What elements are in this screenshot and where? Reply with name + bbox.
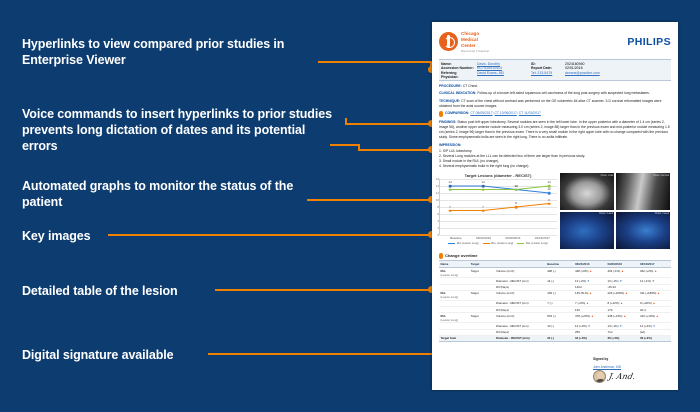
handwritten-signature: J. And. [608, 372, 636, 381]
comparison-link-2[interactable]: CT 10/06/2017 [494, 111, 516, 115]
image-tag: Chest, Axial [601, 174, 614, 177]
signature-block: Signed by John Anderson, MD J. And. [439, 347, 671, 383]
lesion-sub: (Lesion Lung) [441, 273, 459, 277]
chart-series-lines [440, 179, 557, 235]
callout-digital-signature: Digital signature available [22, 347, 237, 363]
impression-item: 4. Several emphysematic bulla in the rig… [439, 164, 671, 169]
legend-label: RLL (Lesion Lung) [457, 242, 479, 245]
chart-point-label: 9 [548, 198, 550, 202]
cell-name: RLL(Lesion Lung) [439, 290, 469, 300]
trend-up-icon: ▲ [586, 301, 589, 305]
x-tick-label: Baseline [450, 236, 462, 240]
y-tick-label: 0 [433, 233, 439, 237]
th-date-1: 06/24/2016 [574, 261, 606, 268]
cell-name: RLL(Lesion Lung) [439, 313, 469, 323]
physician-email[interactable]: devans@practice.com [565, 71, 627, 79]
chart-data-point [482, 209, 485, 212]
legend-entry: RLL (Lesion Lung) [483, 242, 514, 245]
lesion-sub: (Lesion Lung) [441, 318, 459, 322]
section-findings: FINDINGS: Status post left upper lobecto… [439, 120, 671, 140]
callout-voice-commands: Voice commands to insert hyperlinks to p… [22, 106, 342, 154]
signer-name-link[interactable]: John Anderson, MD [593, 365, 671, 369]
th-date-3: 02/16/2017 [638, 261, 671, 268]
cell-metric: Volume (mm³) [495, 313, 546, 323]
microphone-icon [439, 253, 443, 259]
comparison-label: COMPARISON: [445, 111, 469, 115]
table-row[interactable]: RLL(Lesion Lung)TargetVolume (mm³)408 (-… [439, 268, 671, 278]
chart-point-label: 8 [515, 201, 517, 205]
image-tag: Chest, Fused [599, 212, 613, 215]
trend-down-icon: ▼ [588, 324, 591, 328]
y-tick-label: 10 [433, 198, 439, 202]
section-technique: TECHNIQUE: CT scan of the chest without … [439, 99, 671, 109]
trend-down-icon: ▼ [652, 279, 655, 283]
trend-up-icon: ▲ [625, 291, 628, 295]
table-row[interactable]: RLL(Lesion Lung)TargetVolume (mm³)109 (-… [439, 290, 671, 300]
image-tag: Chest, Fused [655, 212, 669, 215]
lesion-sub: (Lesion Lung) [441, 295, 459, 299]
change-overtime-table: Name Target Baseline 06/24/2016 09/26/20… [439, 260, 671, 342]
patient-name-value[interactable]: Davis, Dorothy [477, 62, 529, 66]
cell-summary-name: Target Sum [439, 335, 469, 341]
y-tick-label: 8 [433, 205, 439, 209]
trend-up-icon: ▲ [589, 291, 592, 295]
logo-subtitle: Memorial Hospital [461, 49, 489, 53]
chart-point-label: 7 [482, 205, 484, 209]
cell-date-3: 413 (+10%) ▲ [638, 313, 671, 323]
cell-date-3: 362 (+2%) ▲ [638, 268, 671, 278]
findings-text: Status post left upper lobectomy. Severa… [439, 120, 670, 139]
chart-data-point [449, 209, 452, 212]
philips-wordmark: PHILIPS [627, 36, 671, 48]
procedure-text: CT Chest. [463, 84, 478, 88]
patient-info-table: Name: Davis, Dorothy ID: 2024160940 Acce… [439, 59, 671, 81]
cell-summary-date-1: 34 (+0%) [574, 335, 606, 341]
patient-id-value: 2024160940 [565, 62, 627, 66]
cell-date-1: 145 (5L%) ▲ [574, 290, 606, 300]
x-tick-label: 06/24/2016 [476, 236, 491, 240]
clinical-indication-label: CLINICAL INDICATION: [439, 91, 476, 95]
referring-physician-label: Referring Physician: [441, 71, 475, 79]
key-images-grid: Chest, Axial Chest, Coronal Chest, Fused… [560, 173, 670, 249]
technique-text: CT scan of the chest without contrast wa… [439, 99, 661, 108]
chart-and-images-row: Target Lesions (diameter - RECIST) 02468… [439, 173, 671, 249]
patient-id-label: ID: [531, 62, 563, 66]
cell-date-2: 404 (-1%) ▲ [606, 268, 638, 278]
chart-data-point [515, 188, 518, 191]
y-tick-label: 12 [433, 191, 439, 195]
cell-summary-target [469, 335, 495, 341]
table-summary-row: Target SumDiameter - RECIST (mm)34 (-)34… [439, 335, 671, 341]
chart-point-label: 13 [448, 184, 451, 188]
grid-line [440, 235, 557, 236]
trend-up-icon: ▲ [620, 301, 623, 305]
y-tick-label: 14 [433, 184, 439, 188]
chart-data-point [548, 192, 551, 195]
legend-label: RLL (Lesion Lung) [526, 242, 548, 245]
key-image-pet-fused-followup[interactable]: Chest, Fused [616, 212, 670, 249]
y-tick-label: 6 [433, 212, 439, 216]
legend-entry: RLL (Lesion Lung) [517, 242, 548, 245]
chart-x-axis: Baseline06/24/201609/26/201602/16/2017 [439, 236, 557, 240]
callout-detailed-table: Detailed table of the lesion [22, 283, 232, 299]
callout-automated-graphs: Automated graphs to monitor the status o… [22, 178, 322, 210]
trend-up-icon: ▲ [591, 314, 594, 318]
target-lesions-chart: Target Lesions (diameter - RECIST) 02468… [439, 173, 557, 249]
trend-up-icon: ▲ [589, 269, 592, 273]
legend-label: RLL (Lesion Lung) [491, 242, 513, 245]
cell-metric: Volume (mm³) [495, 268, 546, 278]
table-row[interactable]: RLL(Lesion Lung)TargetVolume (mm³)503 (-… [439, 313, 671, 323]
chart-data-point [449, 188, 452, 191]
image-tag: Chest, Coronal [653, 174, 669, 177]
trend-down-icon: ▼ [619, 279, 622, 283]
report-date-value: 02/01/2016 [565, 66, 627, 70]
avatar [593, 370, 606, 383]
y-tick-label: 16 [433, 177, 439, 181]
technique-label: TECHNIQUE: [439, 99, 460, 103]
clinical-indication-text: Follow-up of a known left-sided squamous… [477, 91, 649, 95]
accession-value[interactable]: RC7S20012414 [477, 66, 529, 70]
chart-point-label: 7 [449, 205, 451, 209]
x-tick-label: 09/26/2016 [505, 236, 520, 240]
signature-row: J. And. [593, 370, 671, 383]
findings-label: FINDINGS: [439, 120, 456, 124]
hospital-name: Chicago Medical Center Memorial Hospital [461, 31, 489, 53]
chart-point-label: 14 [547, 180, 550, 184]
hospital-logo: Chicago Medical Center Memorial Hospital [439, 31, 489, 53]
chart-plot-area: 024681012141614141312778913131314 [439, 179, 557, 235]
chart-data-point [515, 206, 518, 209]
cell-metric: Volume (mm³) [495, 290, 546, 300]
section-clinical-indication: CLINICAL INDICATION: Follow-up of a know… [439, 91, 671, 96]
document-header: Chicago Medical Center Memorial Hospital… [439, 28, 671, 56]
callout-key-images: Key images [22, 228, 142, 244]
comparison-link-3[interactable]: CT 11/03/2017 [519, 111, 541, 115]
cell-name: RLL(Lesion Lung) [439, 268, 469, 278]
trend-up-icon: ▲ [653, 301, 656, 305]
procedure-label: PROCEDURE: [439, 84, 462, 88]
trend-up-icon: ▲ [623, 314, 626, 318]
trend-up-icon: ▲ [656, 314, 659, 318]
caduceus-icon [439, 32, 458, 51]
key-image-pet-fused-axial[interactable]: Chest, Fused [560, 212, 614, 249]
cell-date-3: 311 (+189%) ▲ [638, 290, 671, 300]
y-tick-label: 4 [433, 219, 439, 223]
cell-date-2: 438 (+13%) ▲ [606, 313, 638, 323]
cell-baseline: 503 (-) [546, 313, 574, 323]
cell-summary-baseline: 34 (-) [546, 335, 574, 341]
table-header-row: Name Target Baseline 06/24/2016 09/26/20… [439, 261, 671, 268]
cell-summary-date-3: 36 (+2%) [638, 335, 671, 341]
th-target: Target [469, 261, 495, 268]
trend-down-icon: ▼ [653, 324, 656, 328]
impression-label: IMPRESSION: [439, 143, 671, 147]
cell-date-1: 478 (+20%) ▲ [574, 313, 606, 323]
th-metric [495, 261, 546, 268]
cell-date-2: 226 (+109%) ▲ [606, 290, 638, 300]
change-table-header-row: Change overtime [439, 253, 671, 260]
trend-up-icon: ▲ [621, 269, 624, 273]
legend-entry: RLL (Lesion Lung) [448, 242, 479, 245]
cell-target: Target [469, 268, 495, 278]
microphone-icon [439, 111, 443, 117]
cell-baseline: 408 (-) [546, 268, 574, 278]
report-date-label: Report Date: [531, 66, 563, 70]
section-procedure: PROCEDURE: CT Chest. [439, 84, 671, 89]
change-table-title: Change overtime [445, 253, 477, 258]
cell-summary-metric: Diameter - RECIST (mm) [495, 335, 546, 341]
chart-data-point [548, 185, 551, 188]
chart-point-label: 12 [547, 187, 550, 191]
section-comparison: COMPARISON: CT 08/05/2017; CT 10/06/2017… [439, 111, 671, 118]
legend-swatch [483, 243, 490, 245]
key-image-ct-axial[interactable]: Chest, Axial [560, 173, 614, 210]
trend-up-icon: ▲ [654, 269, 657, 273]
physician-phone[interactable]: Tel: 213-5479 [531, 71, 563, 79]
comparison-link-1[interactable]: CT 08/05/2017 [470, 111, 492, 115]
chart-data-point [482, 188, 485, 191]
cell-summary-date-2: 36 (+4%) [606, 335, 638, 341]
trend-up-icon: ▲ [657, 291, 660, 295]
cell-date-1: 428 (+5%) ▲ [574, 268, 606, 278]
cell-target: Target [469, 290, 495, 300]
chart-data-point [548, 202, 551, 205]
impression-list: 1. S/P LUL lobectomy. 2. Several Lung no… [439, 149, 671, 169]
legend-swatch [448, 243, 455, 245]
th-baseline: Baseline [546, 261, 574, 268]
chart-title: Target Lesions (diameter - RECIST) [439, 173, 557, 178]
patient-name-label: Name: [441, 62, 475, 66]
cell-baseline: 109 (-) [546, 290, 574, 300]
y-tick-label: 2 [433, 226, 439, 230]
radiology-report-document: Chicago Medical Center Memorial Hospital… [432, 22, 678, 390]
chart-point-label: 13 [514, 184, 517, 188]
referring-physician-value[interactable]: David Evans, MD [477, 71, 529, 79]
accession-label: Accession Number: [441, 66, 475, 70]
comparison-body: COMPARISON: CT 08/05/2017; CT 10/06/2017… [445, 111, 541, 116]
th-date-2: 09/26/2016 [606, 261, 638, 268]
signed-by-label: Signed by [593, 357, 608, 361]
legend-swatch [517, 243, 524, 245]
th-name: Name [439, 261, 469, 268]
trend-down-icon: ▼ [619, 324, 622, 328]
key-image-ct-coronal[interactable]: Chest, Coronal [616, 173, 670, 210]
cell-target: Target [469, 313, 495, 323]
chart-legend: RLL (Lesion Lung)RLL (Lesion Lung)RLL (L… [439, 242, 557, 245]
callout-hyperlinks-prior-studies: Hyperlinks to view compared prior studie… [22, 36, 332, 68]
chart-point-label: 13 [481, 184, 484, 188]
trend-down-icon: ▼ [587, 279, 590, 283]
x-tick-label: 02/16/2017 [535, 236, 550, 240]
slide-canvas: Hyperlinks to view compared prior studie… [0, 0, 700, 412]
